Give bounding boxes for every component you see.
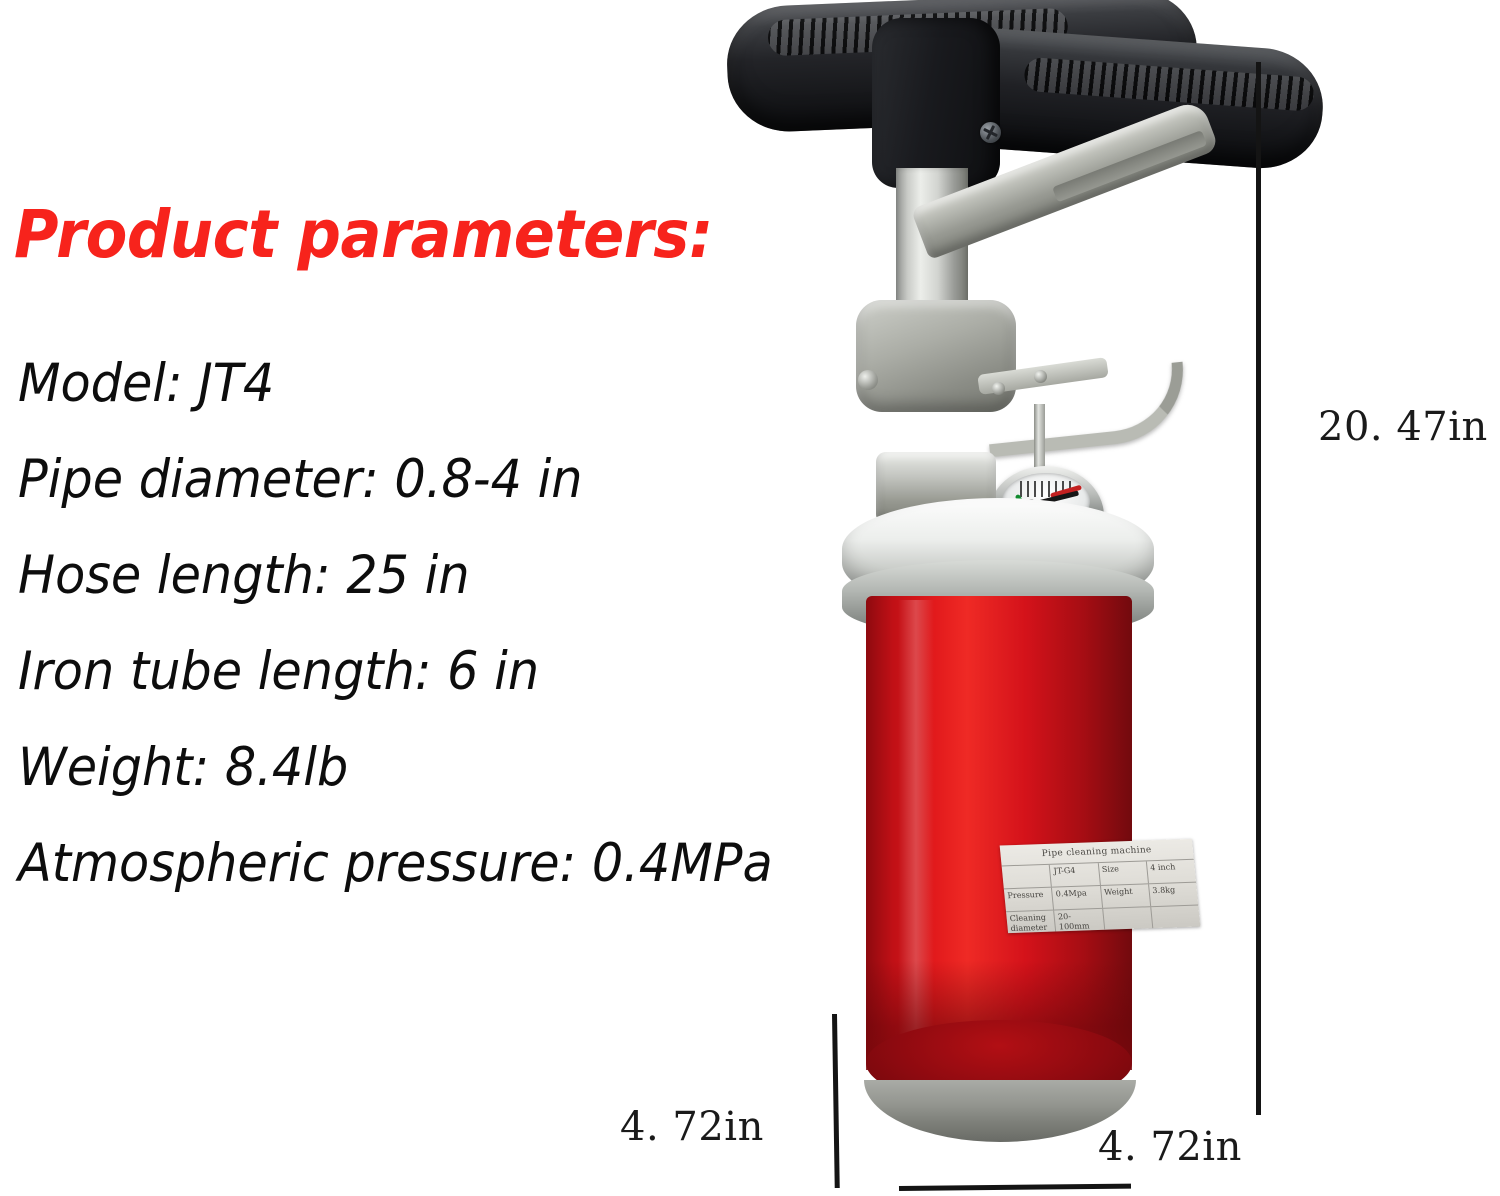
- grip-ribs-right: [1023, 57, 1315, 112]
- hook-pin-icon: [1034, 370, 1047, 383]
- sticker-wrap: Pipe cleaning machine JT-G4 Size 4 inch …: [866, 596, 1132, 1066]
- sticker-cell: 0.4Mpa: [1052, 886, 1102, 910]
- product-spec-sticker: Pipe cleaning machine JT-G4 Size 4 inch …: [1000, 839, 1201, 933]
- dimension-label-height: 20. 47in: [1318, 404, 1488, 450]
- product-image-canvas: Product parameters: Model: JT4 Pipe diam…: [0, 0, 1500, 1196]
- page-title: Product parameters:: [14, 196, 713, 273]
- pivot-bolt-icon: [858, 370, 878, 390]
- sticker-cell: [1002, 865, 1052, 889]
- hook-pin-icon: [992, 382, 1005, 395]
- sticker-cell: 3.8kg: [1149, 883, 1198, 907]
- sticker-cell: Cleaning diameter: [1006, 911, 1056, 934]
- sticker-cell: Size: [1098, 861, 1148, 885]
- dimension-label-depth: 4. 72in: [620, 1104, 764, 1150]
- sticker-cell: JT-G4: [1050, 863, 1100, 887]
- screw-icon: [980, 122, 1001, 143]
- sticker-cell: [1151, 906, 1200, 930]
- dimension-label-width: 4. 72in: [1098, 1124, 1242, 1170]
- sticker-cell: Weight: [1101, 884, 1151, 908]
- tank-metal-base: [864, 1080, 1136, 1142]
- sticker-cell: Pressure: [1004, 888, 1054, 912]
- dimension-line-height: [1256, 62, 1261, 1115]
- sticker-cell: 20-100mm: [1054, 909, 1104, 933]
- sticker-cell: [1103, 907, 1153, 931]
- sticker-cell: 4 inch: [1147, 860, 1196, 884]
- handle-hub: [872, 18, 1000, 188]
- product-photo: Pipe cleaning machine JT-G4 Size 4 inch …: [780, 0, 1280, 1196]
